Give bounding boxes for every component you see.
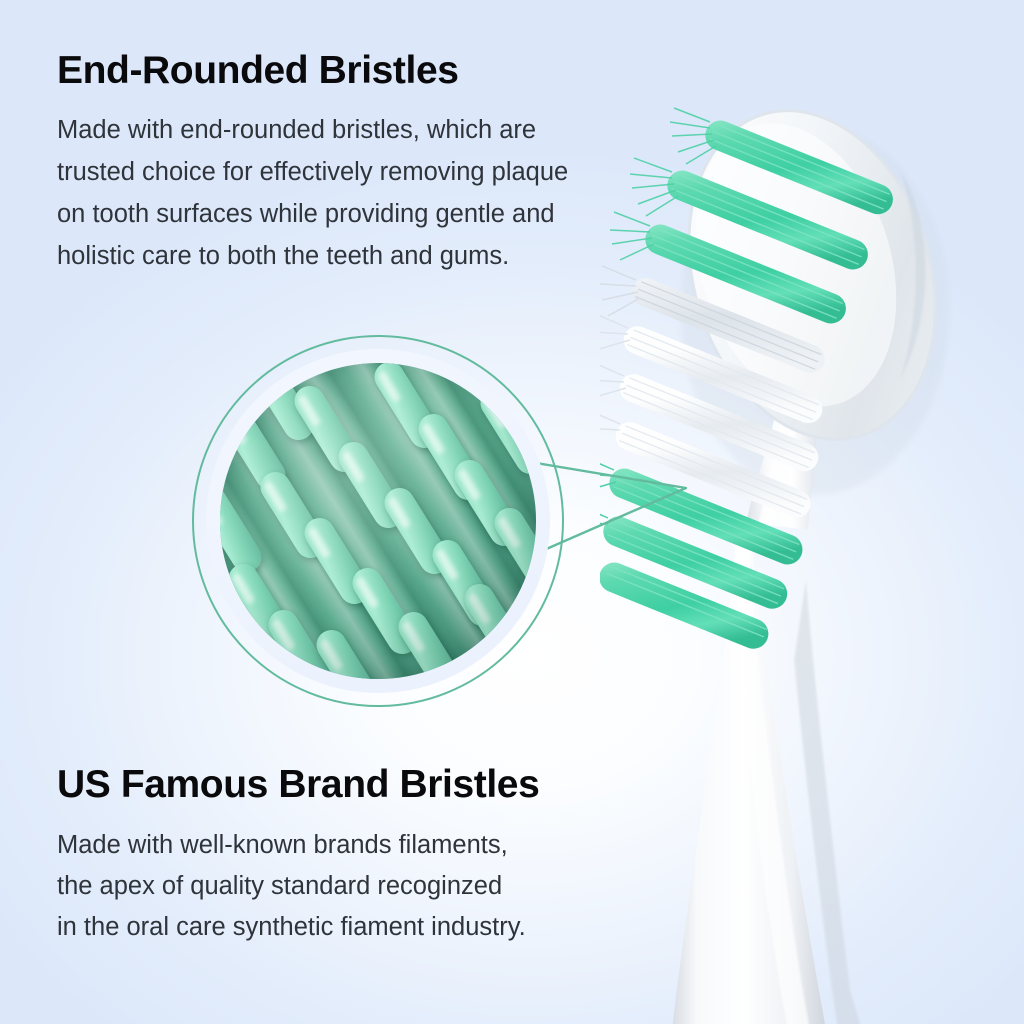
- section-heading: End-Rounded Bristles: [57, 48, 568, 94]
- paragraph-line: Made with well-known brands filaments,: [57, 825, 539, 866]
- section-heading: US Famous Brand Bristles: [57, 762, 539, 808]
- section-paragraph: Made with well-known brands filaments, t…: [57, 825, 539, 948]
- paragraph-line: holistic care to both the teeth and gums…: [57, 235, 568, 277]
- paragraph-line: the apex of quality standard recoginzed: [57, 866, 539, 907]
- handle-branding-clip: EVERY: [600, 820, 930, 1024]
- paragraph-line: in the oral care synthetic fiament indus…: [57, 907, 539, 948]
- bristle-magnifier-callout: [192, 335, 564, 707]
- feature-block-end-rounded: End-Rounded Bristles Made with end-round…: [57, 48, 568, 277]
- product-feature-image: EVERY: [0, 0, 1024, 1024]
- section-paragraph: Made with end-rounded bristles, which ar…: [57, 109, 568, 277]
- feature-block-us-brand: US Famous Brand Bristles Made with well-…: [57, 762, 539, 948]
- paragraph-line: on tooth surfaces while providing gentle…: [57, 193, 568, 235]
- paragraph-line: Made with end-rounded bristles, which ar…: [57, 109, 568, 151]
- paragraph-line: trusted choice for effectively removing …: [57, 151, 568, 193]
- magnifier-ring: [192, 335, 564, 707]
